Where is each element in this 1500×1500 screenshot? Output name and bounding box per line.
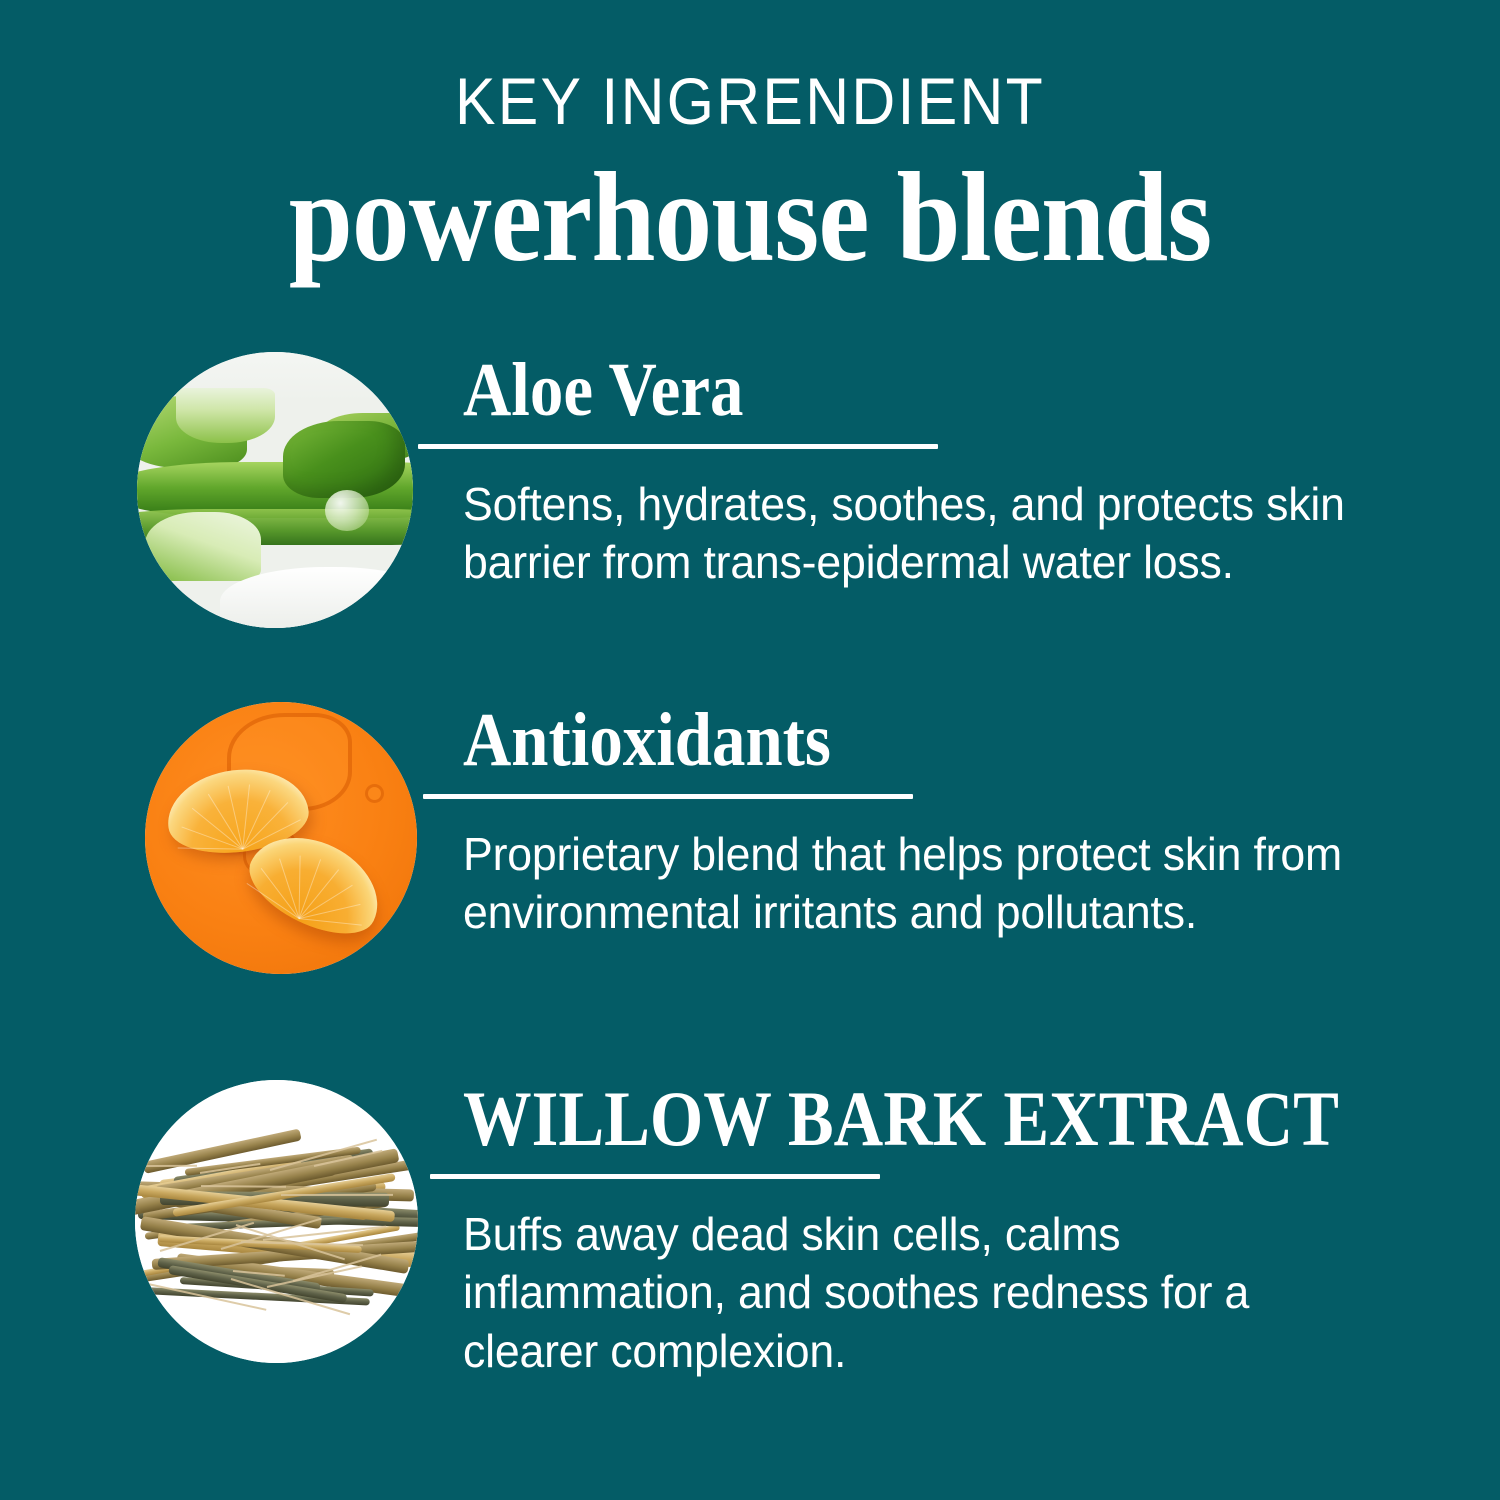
divider-willow-bark-extract bbox=[430, 1174, 880, 1179]
citrus-antioxidants-photo bbox=[145, 702, 417, 974]
divider-aloe-vera bbox=[418, 444, 938, 449]
willow-bark-text-block: WILLOW BARK EXTRACT Buffs away dead skin… bbox=[463, 1080, 1423, 1380]
ingredient-title-antioxidants: Antioxidants bbox=[463, 702, 1308, 778]
ingredient-title-aloe-vera: Aloe Vera bbox=[463, 352, 1308, 428]
ingredient-description-aloe-vera: Softens, hydrates, soothes, and protects… bbox=[463, 475, 1394, 592]
page-title: powerhouse blends bbox=[75, 152, 1425, 283]
divider-antioxidants bbox=[423, 794, 913, 799]
aloe-vera-photo bbox=[137, 352, 413, 628]
willow-bark-photo bbox=[135, 1080, 418, 1363]
aloe-vera-text-block: Aloe Vera Softens, hydrates, soothes, an… bbox=[463, 352, 1423, 592]
eyebrow-text: KEY INGRENDIENT bbox=[60, 68, 1440, 134]
antioxidants-text-block: Antioxidants Proprietary blend that help… bbox=[463, 702, 1423, 942]
infographic-canvas: KEY INGRENDIENT powerhouse blends Aloe V… bbox=[0, 0, 1500, 1500]
ingredient-description-antioxidants: Proprietary blend that helps protect ski… bbox=[463, 825, 1394, 942]
ingredient-title-willow-bark-extract: WILLOW BARK EXTRACT bbox=[463, 1080, 1308, 1158]
header-block: KEY INGRENDIENT powerhouse blends bbox=[0, 68, 1500, 283]
ingredient-description-willow-bark-extract: Buffs away dead skin cells, calms inflam… bbox=[463, 1205, 1394, 1380]
